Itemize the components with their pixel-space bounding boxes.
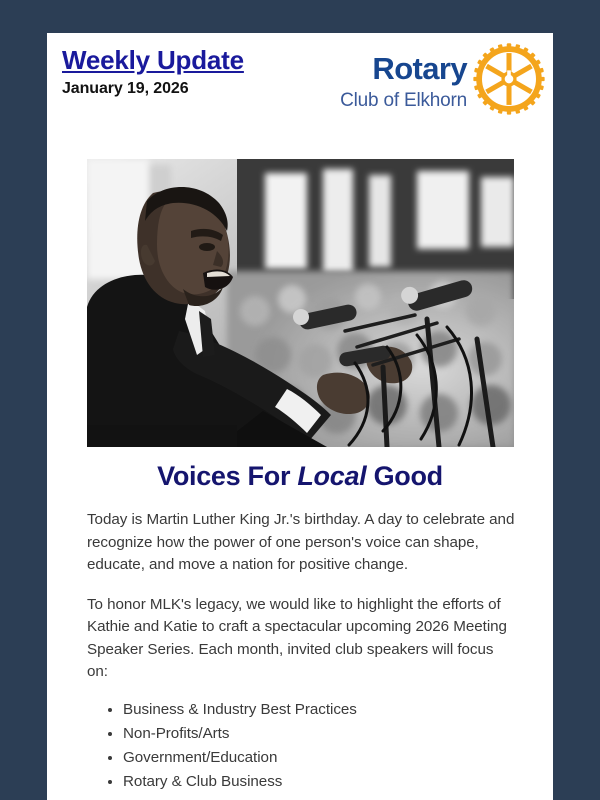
page-frame: Weekly Update January 19, 2026 Rotary Cl… bbox=[0, 0, 600, 800]
newsletter-card: Weekly Update January 19, 2026 Rotary Cl… bbox=[47, 33, 553, 800]
article: Voices For Local Good Today is Martin Lu… bbox=[47, 460, 553, 800]
masthead: Weekly Update January 19, 2026 Rotary Cl… bbox=[47, 33, 553, 140]
page-title: Weekly Update bbox=[62, 46, 244, 76]
list-item: Non-Profits/Arts bbox=[123, 723, 516, 745]
article-paragraph-2: To honor MLK's legacy, we would like to … bbox=[87, 594, 516, 684]
list-item: Rotary & Club Business bbox=[123, 771, 516, 793]
headline-part-1: Voices For bbox=[157, 461, 297, 491]
rotary-club-name: Club of Elkhorn bbox=[340, 90, 467, 112]
headline-emphasis: Local bbox=[297, 461, 366, 491]
article-body: Today is Martin Luther King Jr.'s birthd… bbox=[55, 509, 545, 800]
speaker-focus-list: Business & Industry Best Practices Non-P… bbox=[87, 699, 516, 793]
rotary-brand-name: Rotary bbox=[340, 53, 467, 84]
rotary-logo: Rotary Club of Elkhorn bbox=[340, 41, 545, 115]
hero-photo bbox=[87, 159, 514, 447]
article-headline: Voices For Local Good bbox=[55, 460, 545, 492]
list-item: Business & Industry Best Practices bbox=[123, 699, 516, 721]
rotary-gear-icon bbox=[473, 43, 545, 115]
masthead-title-block: Weekly Update January 19, 2026 bbox=[62, 46, 244, 98]
list-item: Government/Education bbox=[123, 747, 516, 769]
article-paragraph-1: Today is Martin Luther King Jr.'s birthd… bbox=[87, 509, 516, 577]
issue-date: January 19, 2026 bbox=[62, 80, 244, 98]
headline-part-2: Good bbox=[366, 461, 442, 491]
rotary-wordmark: Rotary Club of Elkhorn bbox=[340, 41, 473, 112]
